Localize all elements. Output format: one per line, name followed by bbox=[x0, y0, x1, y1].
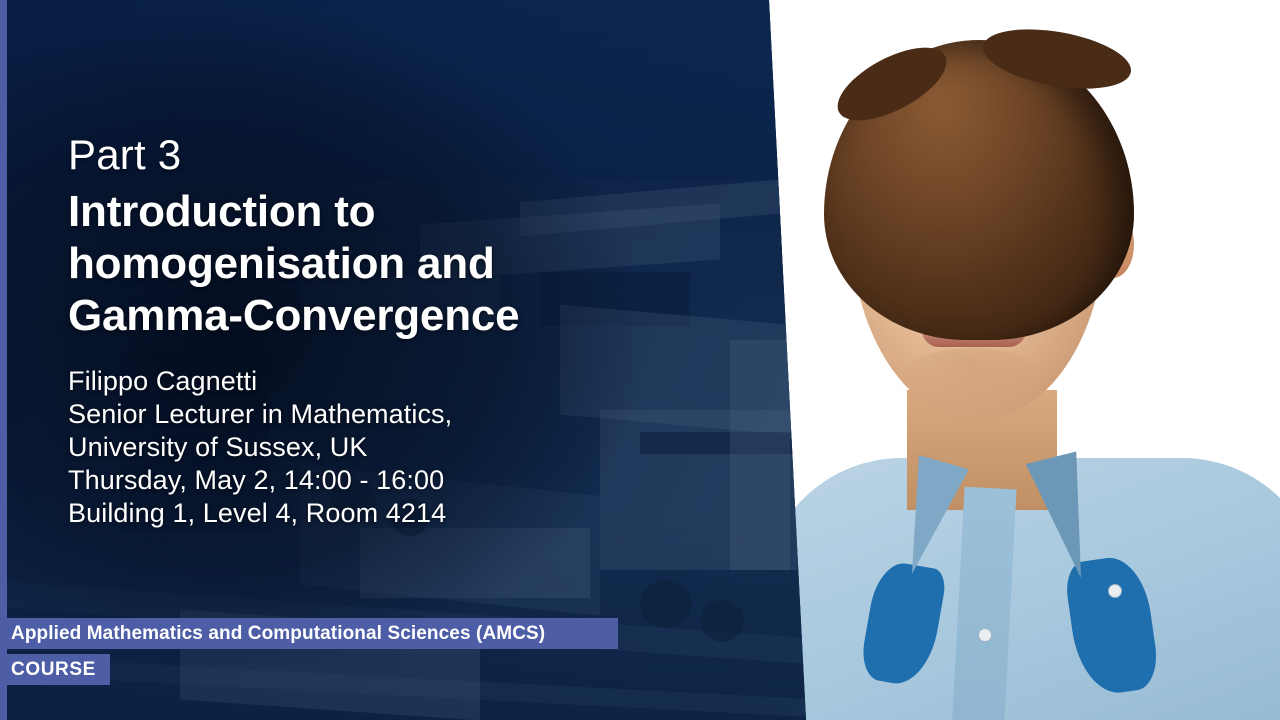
speaker-affiliation: University of Sussex, UK bbox=[68, 431, 452, 464]
title-line-3: Gamma-Convergence bbox=[68, 290, 519, 342]
event-date-time: Thursday, May 2, 14:00 - 16:00 bbox=[68, 464, 452, 497]
shirt-button bbox=[1108, 584, 1122, 598]
department-banner: Applied Mathematics and Computational Sc… bbox=[0, 618, 618, 649]
left-accent-strip bbox=[0, 0, 7, 720]
text-vignette bbox=[0, 0, 820, 720]
event-location: Building 1, Level 4, Room 4214 bbox=[68, 497, 452, 530]
background-panel bbox=[0, 0, 820, 720]
speaker-name: Filippo Cagnetti bbox=[68, 365, 452, 398]
chin-shadow bbox=[892, 348, 1052, 428]
part-label: Part 3 bbox=[68, 130, 181, 180]
title-line-1: Introduction to bbox=[68, 186, 519, 238]
title-line-2: homogenisation and bbox=[68, 238, 519, 290]
speaker-portrait-photo bbox=[772, 18, 1280, 720]
lecture-announcement-slide: Part 3 Introduction to homogenisation an… bbox=[0, 0, 1280, 720]
speaker-details: Filippo Cagnetti Senior Lecturer in Math… bbox=[68, 365, 452, 530]
event-kind-badge: COURSE bbox=[0, 654, 110, 685]
speaker-role: Senior Lecturer in Mathematics, bbox=[68, 398, 452, 431]
lecture-title: Introduction to homogenisation and Gamma… bbox=[68, 186, 519, 342]
shirt-button bbox=[978, 628, 992, 642]
